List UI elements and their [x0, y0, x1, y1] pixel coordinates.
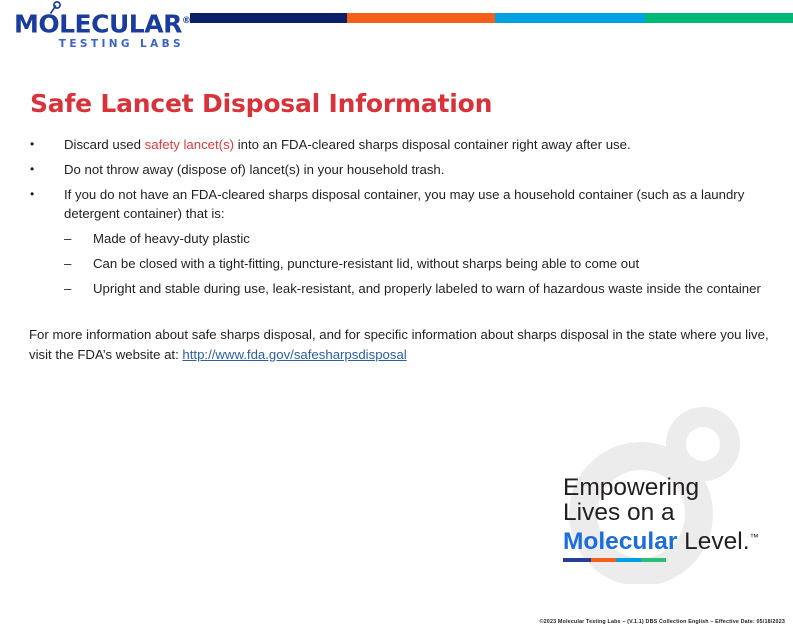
- tagline-molecular-word: Molecular: [563, 528, 677, 555]
- color-bar-segment-cyan: [495, 13, 646, 23]
- color-bar-segment-orange: [347, 13, 495, 23]
- tagline-line-2: Lives on a: [563, 501, 759, 526]
- logo-wordmark: MOLECULAR®: [14, 8, 186, 37]
- bullet-marker: •: [30, 185, 64, 204]
- bullet-marker: •: [30, 160, 64, 179]
- sub-bullet-marker: –: [64, 279, 93, 298]
- sub-bullet-text: Can be closed with a tight-fitting, punc…: [93, 254, 770, 273]
- company-logo: MOLECULAR® TESTING LABS: [14, 8, 186, 50]
- tagline-line-1: Empowering: [563, 476, 759, 501]
- bullet-text-part: into an FDA-cleared sharps disposal cont…: [234, 137, 631, 152]
- list-item: • If you do not have an FDA-cleared shar…: [30, 185, 770, 223]
- bullet-list: • Discard used safety lancet(s) into an …: [30, 135, 770, 304]
- sub-list-item: – Can be closed with a tight-fitting, pu…: [64, 254, 770, 273]
- list-item: • Do not throw away (dispose of) lancet(…: [30, 160, 770, 179]
- sub-bullet-list: – Made of heavy-duty plastic – Can be cl…: [64, 229, 770, 298]
- brand-color-bar: [190, 13, 793, 23]
- bullet-text: Do not throw away (dispose of) lancet(s)…: [64, 160, 770, 179]
- bullet-text-part: Discard used: [64, 137, 145, 152]
- bullet-text: If you do not have an FDA-cleared sharps…: [64, 185, 770, 223]
- color-bar-segment-green: [645, 13, 793, 23]
- tagline-bar-segment-navy: [563, 558, 591, 562]
- bullet-text: Discard used safety lancet(s) into an FD…: [64, 135, 770, 154]
- tagline-color-bar: [563, 558, 666, 562]
- logo-subtitle: TESTING LABS: [14, 38, 186, 50]
- page-title: Safe Lancet Disposal Information: [30, 89, 492, 118]
- more-information-paragraph: For more information about safe sharps d…: [29, 325, 771, 365]
- tagline-text: Empowering Lives on a Molecular Level.™: [563, 476, 759, 555]
- tagline-level-word: Level.: [677, 528, 749, 555]
- tagline-bar-segment-green: [641, 558, 666, 562]
- tagline-line-3: Molecular Level.™: [563, 525, 759, 555]
- sub-bullet-text: Upright and stable during use, leak-resi…: [93, 279, 770, 298]
- sub-list-item: – Upright and stable during use, leak-re…: [64, 279, 770, 298]
- color-bar-segment-navy: [190, 13, 347, 23]
- page-header: MOLECULAR® TESTING LABS: [0, 0, 793, 56]
- tagline-bar-segment-cyan: [616, 558, 642, 562]
- list-item: • Discard used safety lancet(s) into an …: [30, 135, 770, 154]
- sub-bullet-marker: –: [64, 254, 93, 273]
- tagline-bar-segment-orange: [591, 558, 616, 562]
- footer-copyright-note: ©2023 Molecular Testing Labs – (V.1.1) D…: [540, 619, 785, 625]
- molecule-icon: [46, 1, 62, 15]
- tagline-block: Empowering Lives on a Molecular Level.™: [545, 400, 793, 585]
- sub-bullet-text: Made of heavy-duty plastic: [93, 229, 770, 248]
- bullet-text-highlight: safety lancet(s): [145, 137, 234, 152]
- logo-wordmark-text: MOLECULAR: [14, 9, 182, 38]
- fda-sharps-disposal-link[interactable]: http://www.fda.gov/safesharpsdisposal: [182, 347, 406, 362]
- sub-list-item: – Made of heavy-duty plastic: [64, 229, 770, 248]
- trademark-icon: ™: [750, 532, 759, 542]
- sub-bullet-marker: –: [64, 229, 93, 248]
- bullet-marker: •: [30, 135, 64, 154]
